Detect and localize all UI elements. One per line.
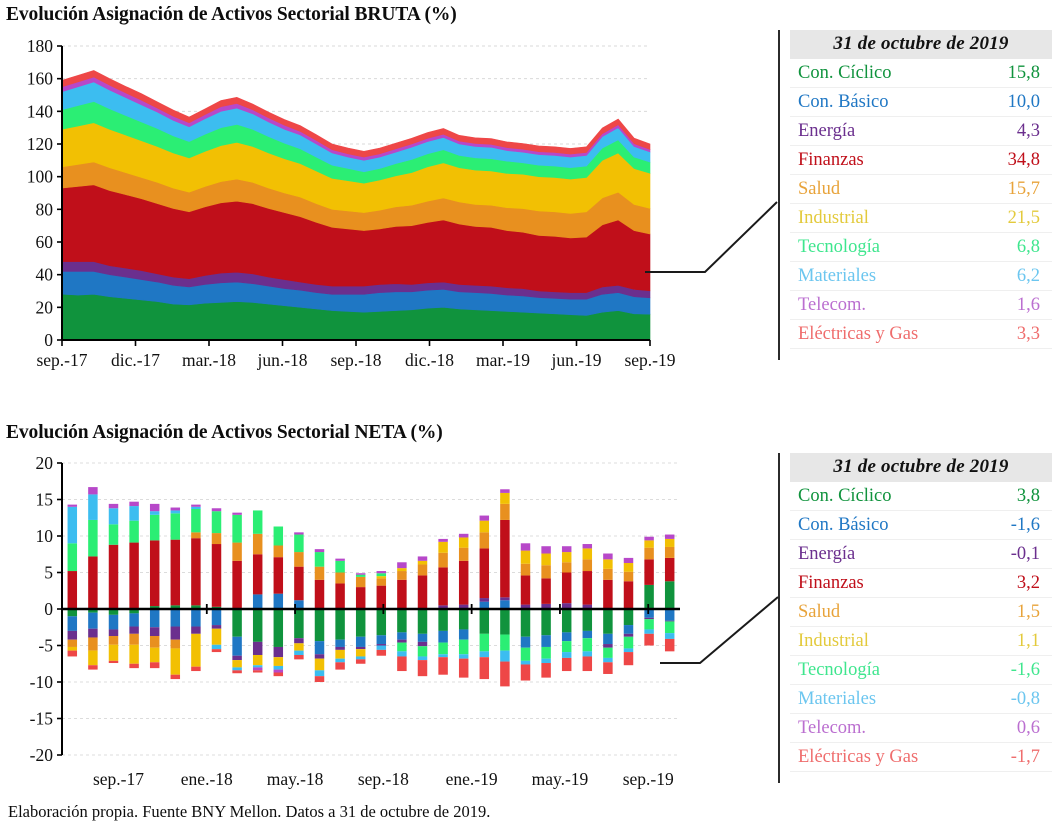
footer-source-note: Elaboración propia. Fuente BNY Mellon. D… <box>8 802 490 822</box>
table-row-value: 0,6 <box>982 714 1052 743</box>
table-row: Telecom.1,6 <box>790 291 1052 320</box>
table-row: Salud15,7 <box>790 175 1052 204</box>
table-row-value: -1,7 <box>982 743 1052 772</box>
table-row: Energía4,3 <box>790 117 1052 146</box>
table-row: Materiales6,2 <box>790 262 1052 291</box>
svg-text:jun.-18: jun.-18 <box>256 350 307 370</box>
table-row: Salud1,5 <box>790 598 1052 627</box>
svg-text:sep.-17: sep.-17 <box>36 350 87 370</box>
svg-text:20: 20 <box>36 455 54 473</box>
svg-text:80: 80 <box>36 199 54 219</box>
table-row-value: 4,3 <box>978 117 1052 146</box>
table-row: Tecnología6,8 <box>790 233 1052 262</box>
table-row-label: Salud <box>790 175 978 204</box>
table-row: Finanzas3,2 <box>790 569 1052 598</box>
svg-text:mar.-18: mar.-18 <box>182 350 236 370</box>
svg-text:140: 140 <box>27 101 54 121</box>
net-table-header-row: 31 de octubre de 2019 <box>790 453 1052 482</box>
net-bar-chart-svg: -20-15-10-505101520sep.-17ene.-18may.-18… <box>0 455 760 795</box>
table-row-value: -1,6 <box>982 656 1052 685</box>
table-row-value: 3,3 <box>978 320 1052 349</box>
table-row-value: 3,2 <box>982 569 1052 598</box>
table-row-label: Con. Cíclico <box>790 59 978 88</box>
table-row: Con. Cíclico3,8 <box>790 482 1052 511</box>
svg-text:sep.-17: sep.-17 <box>93 769 144 789</box>
table-row: Finanzas34,8 <box>790 146 1052 175</box>
table-row-value: 1,6 <box>978 291 1052 320</box>
gross-legend-table-body: 31 de octubre de 2019 Con. Cíclico15,8Co… <box>790 30 1052 349</box>
svg-text:-5: -5 <box>38 636 53 656</box>
table-row-value: 10,0 <box>978 88 1052 117</box>
svg-text:dic.-17: dic.-17 <box>111 350 160 370</box>
svg-text:180: 180 <box>27 38 54 56</box>
table-row: Con. Cíclico15,8 <box>790 59 1052 88</box>
gross-table-header-row: 31 de octubre de 2019 <box>790 30 1052 59</box>
table-row-value: 1,5 <box>982 598 1052 627</box>
net-bar-chart: -20-15-10-505101520sep.-17ene.-18may.-18… <box>0 455 760 795</box>
gross-legend-table: 31 de octubre de 2019 Con. Cíclico15,8Co… <box>790 30 1052 349</box>
svg-text:160: 160 <box>27 69 54 89</box>
table-row-value: 6,2 <box>978 262 1052 291</box>
table-row-value: 34,8 <box>978 146 1052 175</box>
table-row-label: Eléctricas y Gas <box>790 743 982 772</box>
table-row-label: Materiales <box>790 685 982 714</box>
table-row-label: Con. Básico <box>790 511 982 540</box>
table-row-value: -1,6 <box>982 511 1052 540</box>
svg-text:jun.-19: jun.-19 <box>550 350 601 370</box>
svg-text:100: 100 <box>27 167 54 187</box>
net-leader-line <box>660 595 785 675</box>
table-row-value: 1,1 <box>982 627 1052 656</box>
table-row-value: -0,8 <box>982 685 1052 714</box>
svg-text:ene.-18: ene.-18 <box>181 769 233 789</box>
table-row-label: Salud <box>790 598 982 627</box>
svg-text:sep.-18: sep.-18 <box>358 769 409 789</box>
table-row-value: 15,7 <box>978 175 1052 204</box>
table-row-label: Energía <box>790 540 982 569</box>
svg-text:may.-19: may.-19 <box>532 769 589 789</box>
table-row-value: 15,8 <box>978 59 1052 88</box>
table-row-label: Energía <box>790 117 978 146</box>
table-row-label: Telecom. <box>790 714 982 743</box>
gross-table-rule <box>778 30 780 360</box>
table-row: Con. Básico-1,6 <box>790 511 1052 540</box>
svg-text:dic.-18: dic.-18 <box>405 350 454 370</box>
table-row-label: Eléctricas y Gas <box>790 320 978 349</box>
table-row-label: Tecnología <box>790 233 978 262</box>
table-row-label: Tecnología <box>790 656 982 685</box>
svg-text:10: 10 <box>36 526 54 546</box>
table-row-value: -0,1 <box>982 540 1052 569</box>
net-table-header-cell: 31 de octubre de 2019 <box>790 453 1052 482</box>
svg-text:5: 5 <box>44 563 53 583</box>
svg-text:mar.-19: mar.-19 <box>476 350 530 370</box>
table-row-label: Materiales <box>790 262 978 291</box>
table-row: Industrial1,1 <box>790 627 1052 656</box>
table-row-value: 21,5 <box>978 204 1052 233</box>
svg-text:sep.-18: sep.-18 <box>330 350 381 370</box>
table-row: Energía-0,1 <box>790 540 1052 569</box>
gross-table-header-cell: 31 de octubre de 2019 <box>790 30 1052 59</box>
svg-text:0: 0 <box>44 599 53 619</box>
table-row-label: Finanzas <box>790 146 978 175</box>
svg-text:sep.-19: sep.-19 <box>624 350 675 370</box>
gross-leader-line <box>645 200 785 290</box>
svg-text:60: 60 <box>36 232 54 252</box>
table-row: Tecnología-1,6 <box>790 656 1052 685</box>
svg-text:120: 120 <box>27 134 54 154</box>
table-row: Industrial21,5 <box>790 204 1052 233</box>
net-chart-title: Evolución Asignación de Activos Sectoria… <box>6 422 443 444</box>
svg-text:may.-18: may.-18 <box>267 769 324 789</box>
svg-text:-10: -10 <box>30 672 54 692</box>
table-row-label: Industrial <box>790 627 982 656</box>
table-row-value: 3,8 <box>982 482 1052 511</box>
svg-text:0: 0 <box>44 330 53 350</box>
svg-text:sep.-19: sep.-19 <box>623 769 674 789</box>
table-row-label: Finanzas <box>790 569 982 598</box>
gross-chart-title: Evolución Asignación de Activos Sectoria… <box>6 4 457 26</box>
table-row: Materiales-0,8 <box>790 685 1052 714</box>
table-row: Eléctricas y Gas-1,7 <box>790 743 1052 772</box>
svg-text:20: 20 <box>36 297 54 317</box>
table-row-label: Industrial <box>790 204 978 233</box>
table-row: Eléctricas y Gas3,3 <box>790 320 1052 349</box>
net-legend-table-body: 31 de octubre de 2019 Con. Cíclico3,8Con… <box>790 453 1052 772</box>
svg-text:15: 15 <box>36 490 54 510</box>
net-legend-table: 31 de octubre de 2019 Con. Cíclico3,8Con… <box>790 453 1052 772</box>
table-row-label: Con. Cíclico <box>790 482 982 511</box>
table-row-label: Telecom. <box>790 291 978 320</box>
svg-text:ene.-19: ene.-19 <box>446 769 498 789</box>
svg-text:40: 40 <box>36 265 54 285</box>
table-row: Telecom.0,6 <box>790 714 1052 743</box>
svg-text:-15: -15 <box>30 709 54 729</box>
table-row: Con. Básico10,0 <box>790 88 1052 117</box>
table-row-value: 6,8 <box>978 233 1052 262</box>
table-row-label: Con. Básico <box>790 88 978 117</box>
svg-text:-20: -20 <box>30 745 54 765</box>
